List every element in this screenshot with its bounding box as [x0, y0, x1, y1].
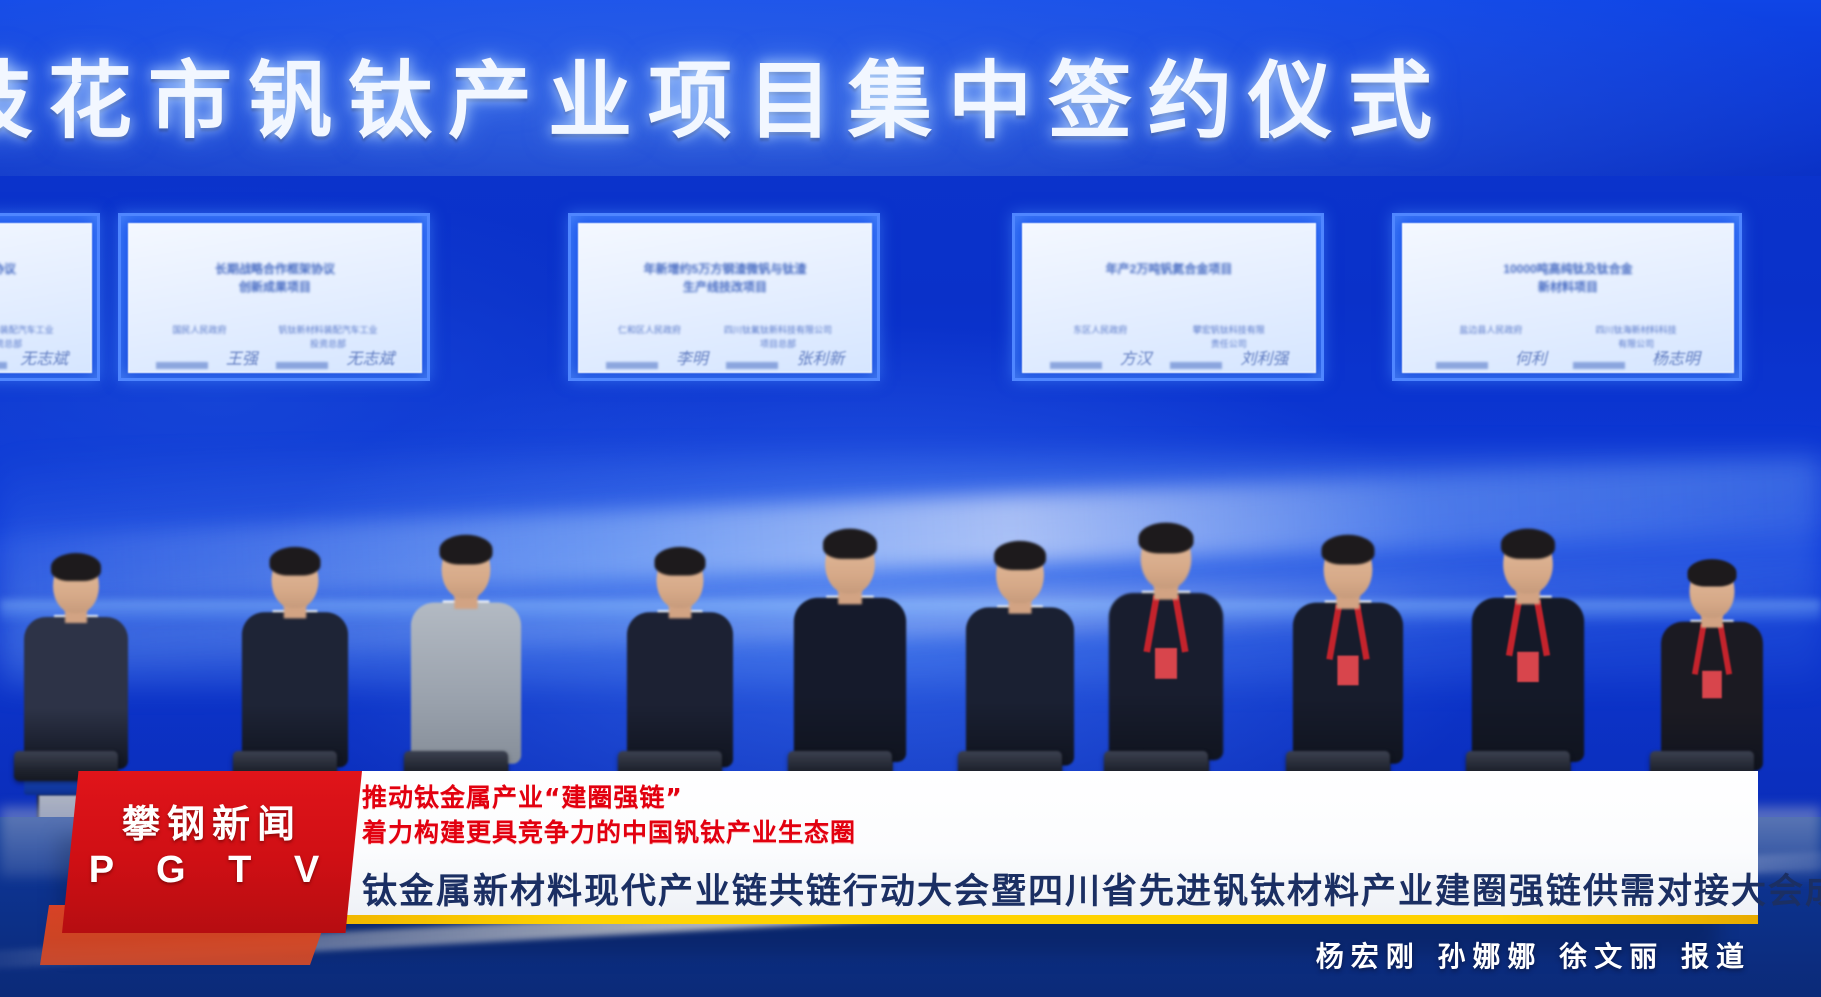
certificate-stamp-left	[1050, 362, 1102, 369]
certificate-frame: 年产2万吨钒氮合金项目东区人民政府攀宏钒钛科技有限责任公司方汉刘利强	[1012, 213, 1324, 381]
figure-badge	[1155, 648, 1177, 679]
figure-jacket	[794, 598, 906, 762]
figure-hair	[1688, 559, 1737, 586]
certificate-handwriting-right: 刘利强	[1240, 345, 1288, 369]
headline-yellow-rule	[318, 915, 1758, 924]
figure-hair	[655, 547, 706, 576]
certificate-stamp-right	[726, 362, 778, 369]
certificate-stamp-left	[606, 362, 658, 369]
figure-badge	[1337, 656, 1358, 686]
figure-hair	[823, 529, 877, 559]
figure-badge	[1517, 652, 1539, 682]
channel-logo-block[interactable]: 攀钢新闻 P G T V	[62, 771, 362, 933]
certificate-frame: 年新增约5万方钢渣微钒与钛渣生产线技改项目仁和区人民政府四川钛氟钛新科技有限公司…	[568, 213, 880, 381]
figure-badge	[1702, 671, 1722, 698]
certificate-handwriting-left: 方汉	[1120, 345, 1152, 369]
certificate-signature-marks: 方汉刘利强	[1041, 345, 1298, 369]
kicker-line-2: 着力构建更具竞争力的中国钒钛产业生态圈	[362, 816, 1722, 851]
certificate-stamp-right	[1573, 362, 1625, 369]
figure-hair	[1501, 529, 1555, 559]
certificate-title: 长期战略合作框架协议创新成果项目	[0, 260, 69, 297]
figure-hair	[994, 541, 1046, 570]
certificate-paper: 10000吨高纯钛及钛合金新材料项目盐边县人民政府四川钛海新材料科技有限公司何利…	[1402, 223, 1734, 373]
kicker-line-1: 推动钛金属产业“建圈强链”	[362, 781, 1722, 816]
stage-banner-title: 枝花市钒钛产业项目集中签约仪式	[0, 34, 1448, 155]
certificate-title: 长期战略合作框架协议创新成果项目	[152, 260, 397, 297]
certificate-paper: 年新增约5万方钢渣微钒与钛渣生产线技改项目仁和区人民政府四川钛氟钛新科技有限公司…	[578, 223, 872, 373]
certificate-paper: 年产2万吨钒氮合金项目东区人民政府攀宏钒钛科技有限责任公司方汉刘利强	[1022, 223, 1316, 373]
certificate-stamp-right	[0, 362, 7, 369]
channel-logo-name-cn: 攀钢新闻	[62, 793, 362, 848]
certificate-signature-marks: 王强无志斌	[147, 345, 404, 369]
figure-lanyard	[1144, 595, 1188, 679]
certificate-stamp-left	[156, 362, 208, 369]
figure-jacket	[242, 612, 348, 767]
figure-hair	[270, 547, 321, 576]
stage-led-banner: 枝花市钒钛产业项目集中签约仪式	[0, 0, 1821, 176]
certificate-paper: 长期战略合作框架协议创新成果项目国民人民政府钒钛新材料装配汽车工业投资总部王强无…	[0, 223, 92, 373]
certificate-signature-marks: 李明张利新	[597, 345, 854, 369]
kicker-text: 推动钛金属产业“建圈强链” 着力构建更具竞争力的中国钒钛产业生态圈	[362, 781, 1722, 850]
figure-lanyard	[1327, 605, 1369, 686]
certificate-handwriting-right: 张利新	[796, 345, 844, 369]
certificate-title: 年产2万吨钒氮合金项目	[1046, 260, 1291, 279]
certificate-paper: 长期战略合作框架协议创新成果项目国民人民政府钒钛新材料装配汽车工业投资总部王强无…	[128, 223, 422, 373]
certificate-frame: 长期战略合作框架协议创新成果项目国民人民政府钒钛新材料装配汽车工业投资总部王强无…	[0, 213, 100, 381]
certificate-frame: 10000吨高纯钛及钛合金新材料项目盐边县人民政府四川钛海新材料科技有限公司何利…	[1392, 213, 1742, 381]
figure-hair	[1322, 535, 1375, 565]
channel-logo-name-en: P G T V	[62, 849, 362, 892]
figure-lanyard	[1692, 624, 1731, 698]
certificate-handwriting-left: 李明	[676, 345, 708, 369]
certificate-title: 10000吨高纯钛及钛合金新材料项目	[1429, 260, 1706, 297]
certificate-handwriting-left: 王强	[226, 345, 258, 369]
certificate-stamp-left	[1436, 362, 1488, 369]
certificate-handwriting-left: 何利	[1515, 345, 1547, 369]
certificate-stamp-right	[1170, 362, 1222, 369]
certificate-handwriting-right: 杨志明	[1652, 345, 1700, 369]
figure-hair	[51, 553, 101, 581]
broadcast-frame: 枝花市钒钛产业项目集中签约仪式 长期战略合作框架协议创新成果项目国民人民政府钒钛…	[0, 0, 1821, 997]
certificate-stamp-right	[276, 362, 328, 369]
certificate-frame: 长期战略合作框架协议创新成果项目国民人民政府钒钛新材料装配汽车工业投资总部王强无…	[118, 213, 430, 381]
figure-jacket	[966, 607, 1074, 765]
figure-hair	[1139, 523, 1194, 554]
certificate-handwriting-right: 无志斌	[346, 345, 394, 369]
lower-third-overlay: 攀钢新闻 P G T V 推动钛金属产业“建圈强链” 着力构建更具竞争力的中国钒…	[0, 745, 1821, 997]
reporter-credits: 杨宏刚 孙娜娜 徐文丽 报道	[1316, 935, 1751, 975]
figure-hair	[440, 535, 493, 565]
figure-lanyard	[1506, 600, 1549, 682]
figure-jacket	[411, 603, 521, 764]
figure-jacket	[627, 612, 733, 767]
headline-text: 钛金属新材料现代产业链共链行动大会暨四川省先进钒钛材料产业建圈强链供需对接大会成…	[362, 863, 1782, 914]
certificate-handwriting-right: 无志斌	[20, 345, 68, 369]
certificate-signature-marks: 王强无志斌	[0, 345, 75, 369]
certificate-signature-marks: 何利杨志明	[1423, 345, 1713, 369]
certificate-title: 年新增约5万方钢渣微钒与钛渣生产线技改项目	[602, 260, 847, 297]
